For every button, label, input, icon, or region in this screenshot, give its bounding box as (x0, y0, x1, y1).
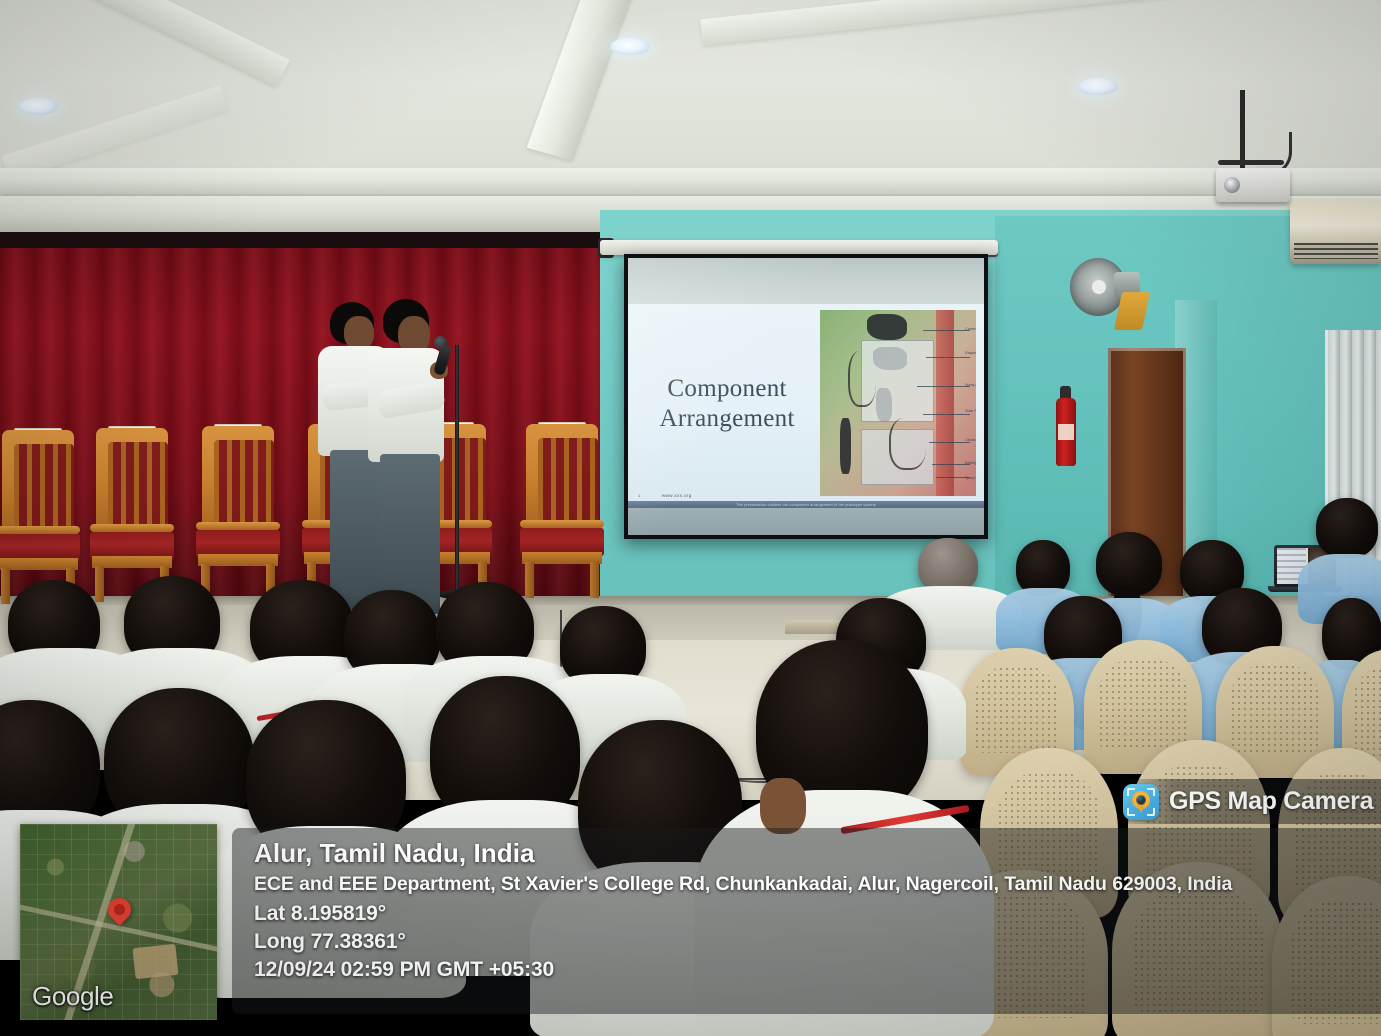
chair-leg (590, 562, 599, 598)
slide-label-battery: Battery pack (965, 461, 976, 465)
air-conditioner-icon (1290, 200, 1381, 264)
focus-bracket-icon (1147, 808, 1155, 816)
microphone-head (434, 336, 447, 349)
screen-surface: Component Arrangement (628, 258, 984, 535)
ceiling-cornice (0, 168, 1381, 194)
chair-arm (520, 520, 604, 528)
chair-slats (14, 444, 74, 528)
photo-camera-part (867, 314, 907, 340)
slide-photo: Camera Raspberry Pi Zero 2W board Spray … (820, 310, 976, 496)
gps-timestamp: 12/09/24 02:59 PM GMT +05:30 (254, 958, 1371, 982)
map-pin-tail (1137, 804, 1145, 813)
slide-title-line2: Arrangement (660, 404, 795, 435)
presenter-face (344, 316, 374, 350)
chair-back (96, 428, 168, 536)
photo-cable (848, 351, 876, 407)
slide-label-board: Raspberry Pi Zero 2W board (965, 351, 976, 355)
map-open-field (133, 943, 179, 979)
ceiling-downlight-icon (1078, 78, 1118, 95)
gps-map-camera-watermark: GPS Map Camera (1115, 779, 1381, 824)
slide-leader-line (917, 386, 970, 387)
slide-leader-line (923, 414, 970, 415)
gps-latitude: Lat 8.195819° (254, 902, 1371, 926)
ceiling-downlight-icon (610, 38, 650, 55)
ceiling-projector-icon (1216, 168, 1290, 202)
chair-slats (214, 440, 274, 524)
slide-bottom-banner-text: The presentation outlines the component … (628, 503, 984, 507)
google-attribution: Google (32, 981, 113, 1012)
extinguisher-label (1058, 424, 1074, 440)
chair-arm (0, 526, 80, 534)
slide-title-line1: Component (660, 374, 795, 405)
gps-place: Alur, Tamil Nadu, India (254, 838, 1371, 869)
screen-roller-housing (600, 240, 998, 255)
projection-screen: Component Arrangement (624, 254, 988, 539)
audience-hand (760, 778, 806, 834)
photo-red-strip (936, 310, 955, 496)
photo-nozzle-part (840, 418, 851, 474)
slide-page-number: 1 (638, 493, 640, 498)
microphone-stand (455, 345, 459, 595)
slide-label-ultrasonic: Ultrasonic sensor (965, 438, 976, 442)
slide-label-nozzle: Spray Nozzle (965, 476, 976, 480)
slide-label-solar: Solar Panel & Regulator 24D (965, 409, 976, 413)
chair-arm (196, 522, 280, 530)
screen-blank-area (628, 508, 984, 535)
stage-chair (520, 424, 604, 596)
gps-longitude: Long 77.38361° (254, 930, 1371, 954)
stage-chair (90, 428, 174, 600)
chair-back (2, 430, 74, 538)
ac-vents (1294, 243, 1378, 259)
photo-cable (889, 418, 926, 470)
chair-leg (1, 568, 10, 604)
slide-footer-note: www.xxx.org (662, 493, 692, 498)
slide-label-camera: Camera (965, 327, 976, 331)
focus-bracket-icon (1127, 808, 1135, 816)
projector-lens (1224, 177, 1240, 193)
slide-title: Component Arrangement (628, 304, 820, 504)
fan-hub (1092, 280, 1106, 294)
chair-slats (538, 438, 598, 522)
chair-back (202, 426, 274, 534)
gps-info-panel: Alur, Tamil Nadu, India ECE and EEE Depa… (232, 828, 1381, 1014)
stage-chair (0, 430, 80, 602)
slide-label-spray: Spray module (965, 383, 976, 387)
presentation-slide: Component Arrangement (628, 304, 984, 504)
gps-address: ECE and EEE Department, St Xavier's Coll… (254, 873, 1371, 896)
slide-leader-line (923, 330, 970, 331)
chair-back (526, 424, 598, 532)
ceiling-beam (0, 0, 290, 87)
slide-leader-line (929, 442, 969, 443)
camera-lens-icon (1136, 795, 1146, 805)
gps-map-camera-icon (1123, 784, 1159, 820)
stage-chair (196, 426, 280, 598)
slide-leader-line (926, 357, 970, 358)
chair-leg (95, 566, 104, 602)
chair-slats (108, 442, 168, 526)
photo-scene: Component Arrangement (0, 0, 1381, 1036)
gps-map-thumbnail[interactable]: Google (20, 824, 217, 1020)
watermark-label: GPS Map Camera (1169, 787, 1373, 816)
audience-head (1316, 498, 1378, 558)
chair-leg (525, 562, 534, 598)
ceiling-beam (527, 0, 642, 161)
ceiling-downlight-icon (18, 98, 58, 115)
chair-arm (90, 524, 174, 532)
gps-text-block: Alur, Tamil Nadu, India ECE and EEE Depa… (254, 838, 1371, 986)
ceiling-beam (700, 0, 1260, 45)
